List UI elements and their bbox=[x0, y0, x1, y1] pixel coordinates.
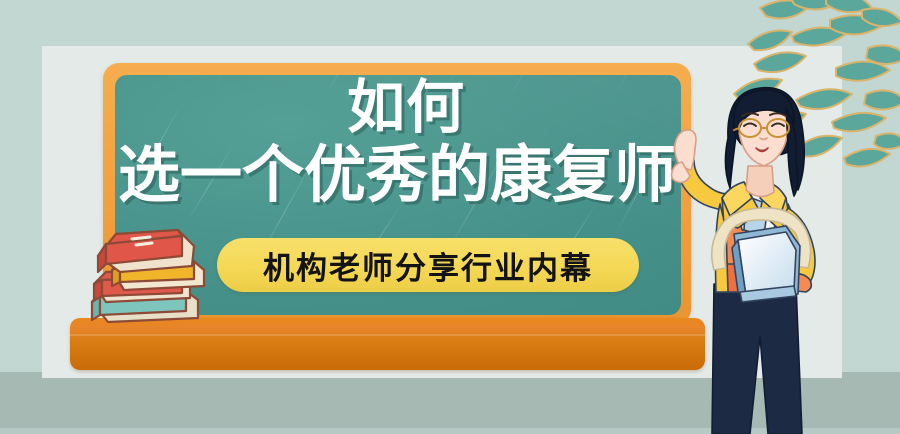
promo-poster: 如何 选一个优秀的康复师 机构老师分享行业内幕 bbox=[0, 0, 900, 434]
subtitle-banner: 机构老师分享行业内幕 bbox=[217, 238, 639, 292]
headline: 如何 选一个优秀的康复师 bbox=[110, 78, 684, 206]
subtitle-banner-text: 机构老师分享行业内幕 bbox=[263, 243, 593, 288]
stacked-books-icon bbox=[86, 222, 226, 330]
teacher-illustration bbox=[668, 78, 884, 434]
headline-line-2: 选一个优秀的康复师 bbox=[110, 144, 684, 206]
headline-line-1: 如何 bbox=[128, 78, 684, 136]
